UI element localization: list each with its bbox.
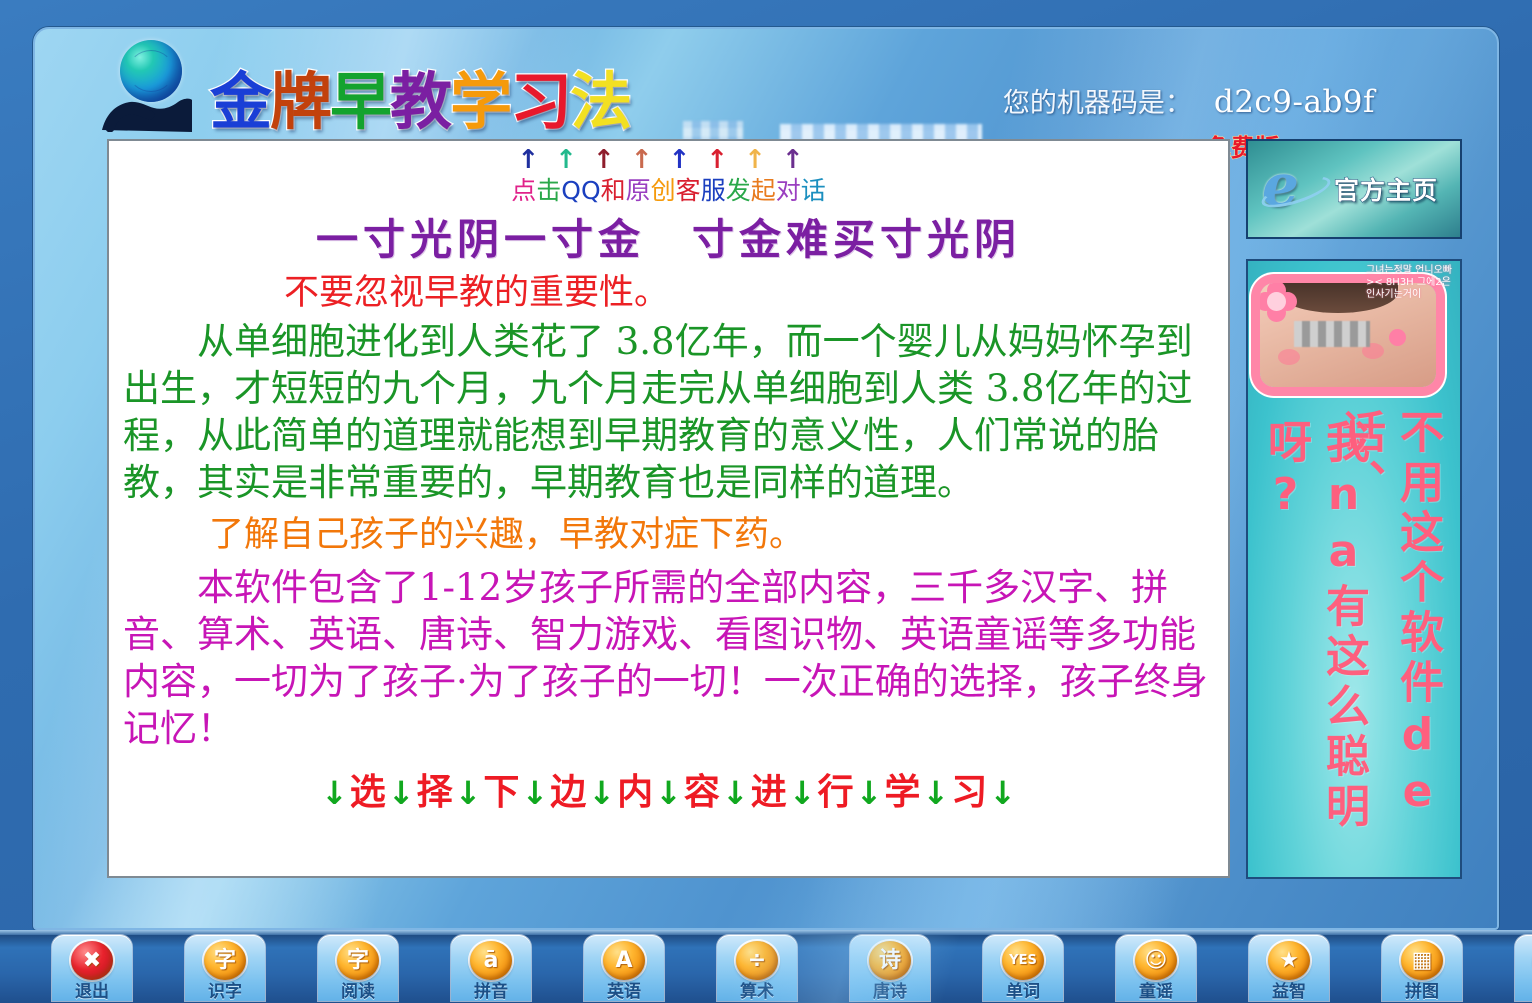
toolbar-label-益智: 益智	[1272, 983, 1306, 1001]
down-arrow-icon-3: ↓	[521, 774, 548, 812]
hand-icon	[100, 86, 192, 132]
toolbar-icon-英语: A	[603, 941, 645, 980]
toolbar-button-益智[interactable]: ★益智	[1249, 935, 1329, 1001]
app-title-char-0: 金	[210, 65, 270, 138]
up-arrow-icon-2: ↑	[593, 145, 631, 175]
qq-line-char-4: 和	[601, 176, 626, 205]
bottom-call-char-4: 内	[617, 771, 653, 813]
qq-line-char-8: 服	[701, 176, 726, 205]
orange-paragraph: 了解自己孩子的兴趣，早教对症下药。	[109, 512, 1228, 558]
app-title-char-5: 习	[510, 65, 570, 138]
toolbar-label-算术: 算术	[740, 983, 774, 1001]
qq-line-char-3: Q	[581, 176, 601, 205]
toolbar-icon-识字: 字	[204, 941, 246, 980]
toolbar-icon-单词: YES	[1002, 941, 1044, 980]
down-arrow-icon-9: ↓	[922, 774, 949, 812]
app-title: 金牌早教学习法	[210, 71, 630, 133]
bottom-call-char-0: 选	[350, 771, 386, 813]
toolbar-icon-阅读: 字	[337, 941, 379, 980]
bottom-call-char-7: 行	[818, 771, 854, 813]
toolbar-label-拼音: 拼音	[474, 983, 508, 1001]
up-arrow-icon-3: ↑	[631, 145, 669, 175]
toolbar-button-拼图[interactable]: ▦拼图	[1382, 935, 1462, 1001]
toolbar-button-认物[interactable]: 物认物	[1515, 935, 1532, 1001]
down-arrow-icon-5: ↓	[655, 774, 682, 812]
qq-line-char-11: 对	[776, 176, 801, 205]
toolbar-button-退出[interactable]: ✖退出	[52, 935, 132, 1001]
up-arrows-row: ↑↑↑↑↑↑↑↑	[109, 147, 1228, 173]
toolbar-label-拼图: 拼图	[1405, 983, 1439, 1001]
toolbar-label-阅读: 阅读	[341, 983, 375, 1001]
promo-panel: 그녀는정말 언니오빠>< 8H3H 그에2은 인사기는거이 不用这个软件de话、…	[1246, 259, 1462, 879]
machine-code-value: d2c9-ab9f	[1214, 84, 1375, 120]
bottom-call-char-3: 边	[550, 771, 586, 813]
blurred-face-region	[1294, 321, 1370, 347]
bottom-toolbar: ✖退出字识字字阅读ā拼音A英语÷算术诗唐诗YES单词☺童谣★益智▦拼图物认物!订…	[0, 930, 1532, 1003]
bottom-call-char-8: 学	[884, 771, 920, 813]
official-homepage-label: 官方主页	[1334, 171, 1438, 207]
green-paragraph: 从单细胞进化到人类花了 3.8亿年，而一个婴儿从妈妈怀孕到出生，才短短的九个月，…	[109, 318, 1228, 506]
bottom-call-char-5: 容	[684, 771, 720, 813]
toolbar-label-童谣: 童谣	[1139, 983, 1173, 1001]
toolbar-button-识字[interactable]: 字识字	[185, 935, 265, 1001]
qq-line-char-10: 起	[751, 176, 776, 205]
up-arrow-icon-0: ↑	[517, 145, 555, 175]
toolbar-icon-童谣: ☺	[1135, 941, 1177, 980]
flower-icon	[1260, 283, 1298, 323]
bottom-call-char-1: 择	[417, 771, 453, 813]
photo-overlay-text: 그녀는정말 언니오빠>< 8H3H 그에2은 인사기는거이	[1366, 265, 1452, 301]
down-arrow-icon-2: ↓	[455, 774, 482, 812]
qq-contact-line[interactable]: 点击QQ和原创客服发起对话	[109, 176, 1228, 206]
qq-line-char-0: 点	[511, 176, 536, 205]
red-lead-text: 不要忽视早教的重要性。	[109, 270, 1228, 316]
machine-code-label: 您的机器码是：	[1003, 81, 1192, 120]
select-content-below-line: ↓选↓择↓下↓边↓内↓容↓进↓行↓学↓习↓	[109, 768, 1228, 817]
right-rail: e 官方主页 그녀는정말 언니오빠>< 8H3H 그에2은 인사기는거이 不用这…	[1246, 139, 1462, 879]
qq-line-char-12: 话	[801, 176, 826, 205]
globe-in-hand-icon	[100, 34, 205, 134]
down-arrow-icon-7: ↓	[789, 774, 816, 812]
toolbar-button-阅读[interactable]: 字阅读	[318, 935, 398, 1001]
desktop-background: 金牌早教学习法 您的机器码是： d2c9-ab9f 免费版 ↑↑↑↑↑↑↑↑ 点…	[0, 0, 1532, 1003]
app-title-char-3: 教	[390, 65, 450, 138]
toolbar-label-英语: 英语	[607, 983, 641, 1001]
app-title-char-2: 早	[330, 65, 390, 138]
toolbar-button-英语[interactable]: A英语	[584, 935, 664, 1001]
up-arrow-icon-6: ↑	[744, 145, 782, 175]
purple-paragraph: 本软件包含了1-12岁孩子所需的全部内容，三千多汉字、拼音、算术、英语、唐诗、智…	[109, 564, 1228, 752]
up-arrow-icon-5: ↑	[706, 145, 744, 175]
toolbar-icon-退出: ✖	[71, 941, 113, 980]
app-title-char-1: 牌	[270, 65, 330, 138]
down-arrow-icon-10: ↓	[989, 774, 1016, 812]
toolbar-button-row: ✖退出字识字字阅读ā拼音A英语÷算术诗唐诗YES单词☺童谣★益智▦拼图物认物!订…	[0, 935, 1532, 1003]
qq-line-char-5: 原	[626, 176, 651, 205]
up-arrow-icon-7: ↑	[782, 145, 820, 175]
toolbar-icon-益智: ★	[1268, 941, 1310, 980]
machine-code-row: 您的机器码是： d2c9-ab9f	[1003, 81, 1375, 120]
up-arrow-icon-4: ↑	[669, 145, 707, 175]
down-arrow-icon-1: ↓	[388, 774, 415, 812]
app-title-char-4: 学	[450, 65, 510, 138]
decorative-dot	[1389, 329, 1406, 346]
up-arrow-icon-1: ↑	[555, 145, 593, 175]
qq-line-char-2: Q	[561, 176, 581, 205]
toolbar-icon-拼图: ▦	[1401, 941, 1443, 980]
toolbar-icon-拼音: ā	[470, 941, 512, 980]
toolbar-button-童谣[interactable]: ☺童谣	[1116, 935, 1196, 1001]
bottom-call-char-6: 进	[751, 771, 787, 813]
bottom-call-char-2: 下	[483, 771, 519, 813]
toolbar-button-唐诗[interactable]: 诗唐诗	[850, 935, 930, 1001]
toolbar-label-单词: 单词	[1006, 983, 1040, 1001]
toolbar-label-退出: 退出	[75, 983, 109, 1001]
promo-vertical-text-left: 我na有这么聪明呀?	[1256, 419, 1372, 877]
proverb-heading: 一寸光阴一寸金 寸金难买寸光阴	[109, 214, 1228, 266]
toolbar-button-算术[interactable]: ÷算术	[717, 935, 797, 1001]
qq-line-char-1: 击	[536, 176, 561, 205]
toolbar-icon-唐诗: 诗	[869, 941, 911, 980]
toolbar-button-单词[interactable]: YES单词	[983, 935, 1063, 1001]
down-arrow-icon-6: ↓	[722, 774, 749, 812]
internet-explorer-icon: e	[1262, 155, 1324, 217]
down-arrow-icon-4: ↓	[588, 774, 615, 812]
toolbar-label-识字: 识字	[208, 983, 242, 1001]
bottom-call-char-9: 习	[951, 771, 987, 813]
down-arrow-icon-8: ↓	[856, 774, 883, 812]
photo-cheek-left	[1278, 349, 1300, 365]
app-title-char-6: 法	[570, 65, 630, 138]
qq-line-char-9: 发	[726, 176, 751, 205]
content-page: ↑↑↑↑↑↑↑↑ 点击QQ和原创客服发起对话 一寸光阴一寸金 寸金难买寸光阴 不…	[107, 139, 1230, 878]
toolbar-button-拼音[interactable]: ā拼音	[451, 935, 531, 1001]
application-window: 金牌早教学习法 您的机器码是： d2c9-ab9f 免费版 ↑↑↑↑↑↑↑↑ 点…	[33, 27, 1499, 930]
official-homepage-button[interactable]: e 官方主页	[1246, 139, 1462, 239]
toolbar-label-唐诗: 唐诗	[873, 983, 907, 1001]
down-arrow-icon-0: ↓	[321, 774, 348, 812]
qq-line-char-6: 创	[651, 176, 676, 205]
app-header: 金牌早教学习法 您的机器码是： d2c9-ab9f 免费版	[35, 29, 1497, 141]
qq-line-char-7: 客	[676, 176, 701, 205]
toolbar-icon-算术: ÷	[736, 941, 778, 980]
